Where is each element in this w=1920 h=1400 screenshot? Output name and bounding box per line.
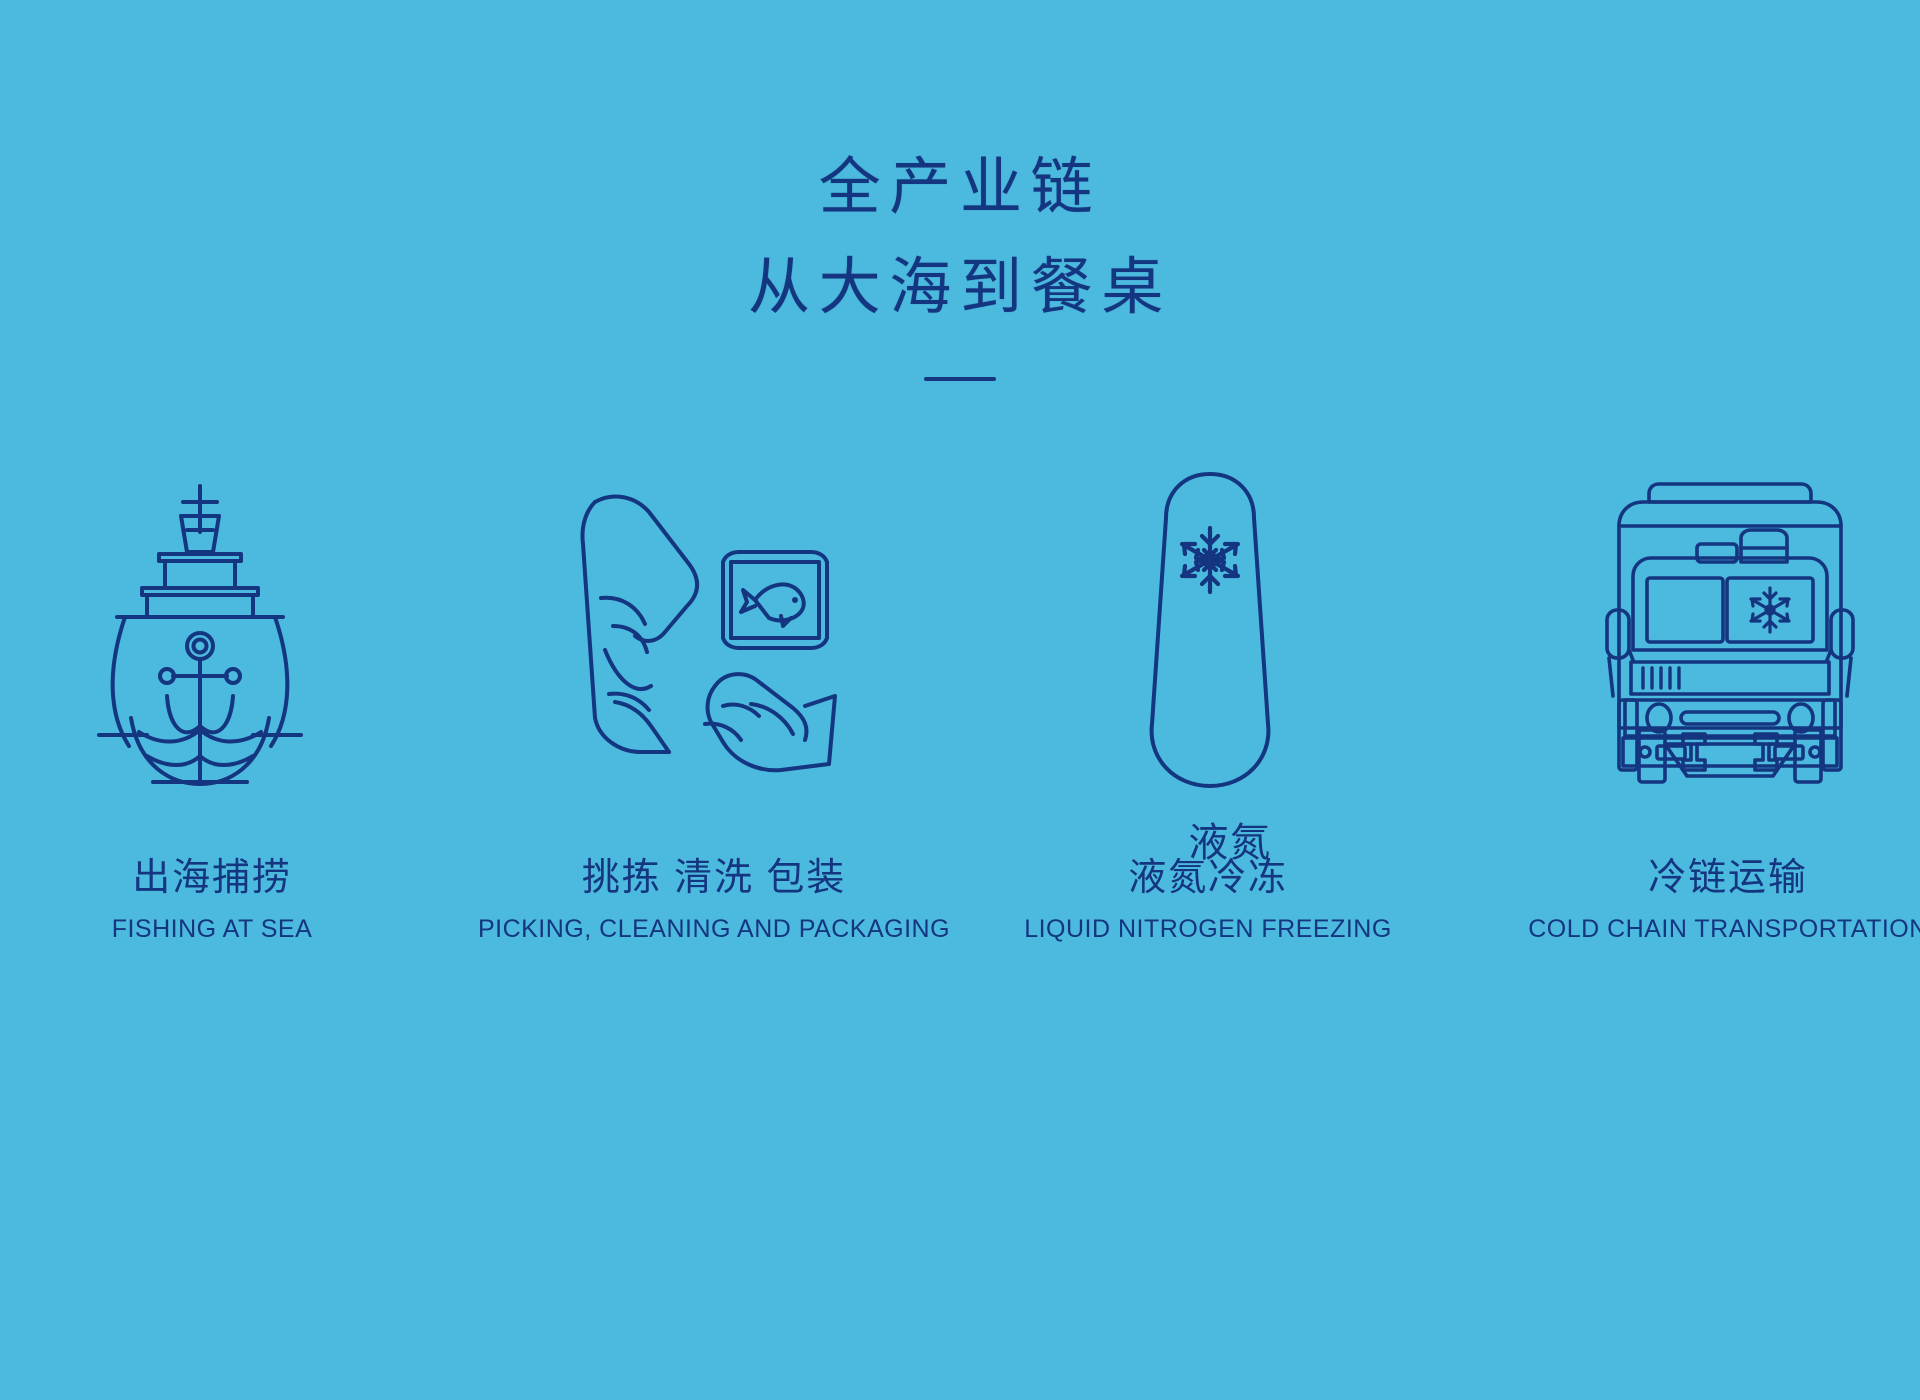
fishing-boat-anchor-icon [0,430,440,790]
step-label-en: LIQUID NITROGEN FREEZING [1024,915,1392,944]
hands-fish-package-icon [468,430,948,790]
page-title-line-1: 全产业链 [0,150,1920,226]
process-step-cold-chain-transportation[interactable]: 冷链运输 COLD CHAIN TRANSPORTATION [1440,430,1920,944]
nitrogen-tank-text: 液氮 [1155,810,1305,868]
process-step-fishing-at-sea[interactable]: 出海捕捞 FISHING AT SEA [0,430,480,944]
process-step-labels: 出海捕捞 FISHING AT SEA [112,846,313,944]
step-label-cn: 冷链运输 [1528,846,1920,901]
step-label-cn: 挑拣 清洗 包装 [478,846,950,901]
page-header: 全产业链 从大海到餐桌 [0,150,1920,381]
step-label-en: FISHING AT SEA [112,915,313,944]
refrigerated-truck-icon [1490,430,1920,790]
title-divider [924,377,996,381]
process-infographic: 全产业链 从大海到餐桌 [0,0,1920,1400]
step-label-cn: 出海捕捞 [112,846,313,901]
process-step-picking-cleaning-packaging[interactable]: 挑拣 清洗 包装 PICKING, CLEANING AND PACKAGING [480,430,960,944]
liquid-nitrogen-tank-icon [970,430,1450,790]
process-step-labels: 冷链运输 COLD CHAIN TRANSPORTATION [1528,846,1920,944]
page-title-line-2: 从大海到餐桌 [0,250,1920,326]
process-step-labels: 挑拣 清洗 包装 PICKING, CLEANING AND PACKAGING [478,846,950,944]
step-label-en: PICKING, CLEANING AND PACKAGING [478,915,950,944]
process-steps: 出海捕捞 FISHING AT SEA [0,430,1920,944]
step-label-en: COLD CHAIN TRANSPORTATION [1528,915,1920,944]
